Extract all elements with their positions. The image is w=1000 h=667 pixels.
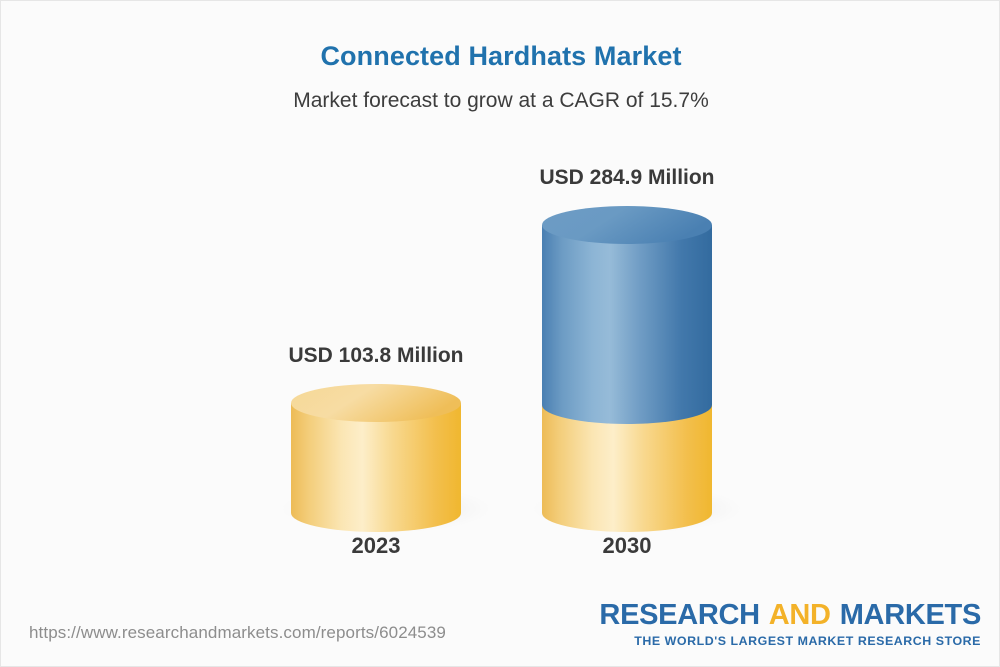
- logo-research-text: RESEARCH: [599, 599, 759, 631]
- bar-2023: [281, 384, 491, 533]
- chart-plot-area: USD 103.8 Million USD 284.9 Million 2023…: [1, 1, 1000, 601]
- logo-and-text: AND: [769, 599, 831, 631]
- logo-wordmark: RESEARCHANDMARKETS: [599, 601, 981, 630]
- bar-2030-top: [542, 206, 712, 244]
- logo-tagline: THE WORLD'S LARGEST MARKET RESEARCH STOR…: [599, 634, 981, 648]
- cylinder-bars-svg: [1, 1, 1000, 601]
- logo-markets-text: MARKETS: [840, 599, 981, 631]
- bar-2023-top: [291, 384, 461, 422]
- bar-2030: [532, 206, 742, 533]
- category-label-2030: 2030: [467, 533, 787, 559]
- value-label-2023: USD 103.8 Million: [216, 344, 536, 368]
- bar-2030-body-upper: [542, 225, 712, 424]
- source-url[interactable]: https://www.researchandmarkets.com/repor…: [29, 623, 446, 643]
- bar-2023-body: [291, 403, 461, 532]
- brand-logo: RESEARCHANDMARKETS THE WORLD'S LARGEST M…: [599, 601, 981, 648]
- value-label-2030: USD 284.9 Million: [467, 166, 787, 190]
- chart-canvas: Connected Hardhats Market Market forecas…: [0, 0, 1000, 667]
